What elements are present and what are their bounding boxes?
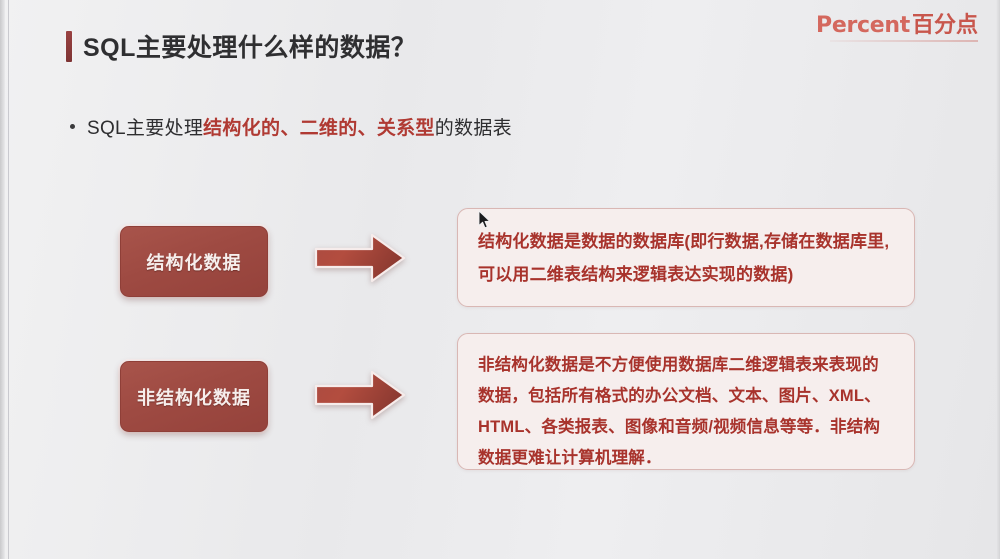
description-structured-data: 结构化数据是数据的数据库(即行数据,存储在数据库里,可以用二维表结构来逻辑表达实… (457, 208, 915, 307)
frame-edge-right (996, 0, 1000, 559)
slide-title: SQL主要处理什么样的数据？ (66, 28, 416, 64)
frame-edge-hairline (8, 0, 9, 559)
bullet-text-prefix: SQL主要处理 (87, 118, 203, 139)
chip-unstructured-data-label: 非结构化数据 (137, 384, 251, 410)
description-unstructured-data: 非结构化数据是不方便使用数据库二维逻辑表来表现的数据，包括所有格式的办公文档、文… (457, 333, 915, 470)
title-accent-bar (66, 31, 72, 62)
bullet-dot-icon (70, 124, 75, 129)
brand-logo-latin: Percent (816, 15, 910, 37)
arrow-structured-data-icon (314, 232, 406, 284)
brand-logo: Percent 百分点 (816, 14, 978, 37)
description-unstructured-data-text: 非结构化数据是不方便使用数据库二维逻辑表来表现的数据，包括所有格式的办公文档、文… (478, 350, 894, 474)
chip-unstructured-data: 非结构化数据 (120, 361, 268, 432)
brand-logo-underline (830, 40, 978, 42)
presentation-slide: Percent 百分点 SQL主要处理什么样的数据？ SQL主要处理结构化的、二… (0, 0, 1000, 559)
brand-logo-chinese: 百分点 (912, 14, 978, 36)
bullet-text: SQL主要处理结构化的、二维的、关系型的数据表 (87, 113, 512, 140)
chip-structured-data-label: 结构化数据 (147, 249, 242, 275)
bullet-text-suffix: 的数据表 (435, 118, 512, 139)
description-structured-data-text: 结构化数据是数据的数据库(即行数据,存储在数据库里,可以用二维表结构来逻辑表达实… (478, 225, 894, 291)
slide-title-text: SQL主要处理什么样的数据？ (83, 28, 416, 64)
bullet-item: SQL主要处理结构化的、二维的、关系型的数据表 (70, 113, 512, 140)
bullet-text-highlight: 结构化的、二维的、关系型 (203, 118, 435, 139)
chip-structured-data: 结构化数据 (120, 226, 268, 297)
frame-edge-left (0, 0, 5, 559)
arrow-unstructured-data-icon (314, 369, 406, 421)
